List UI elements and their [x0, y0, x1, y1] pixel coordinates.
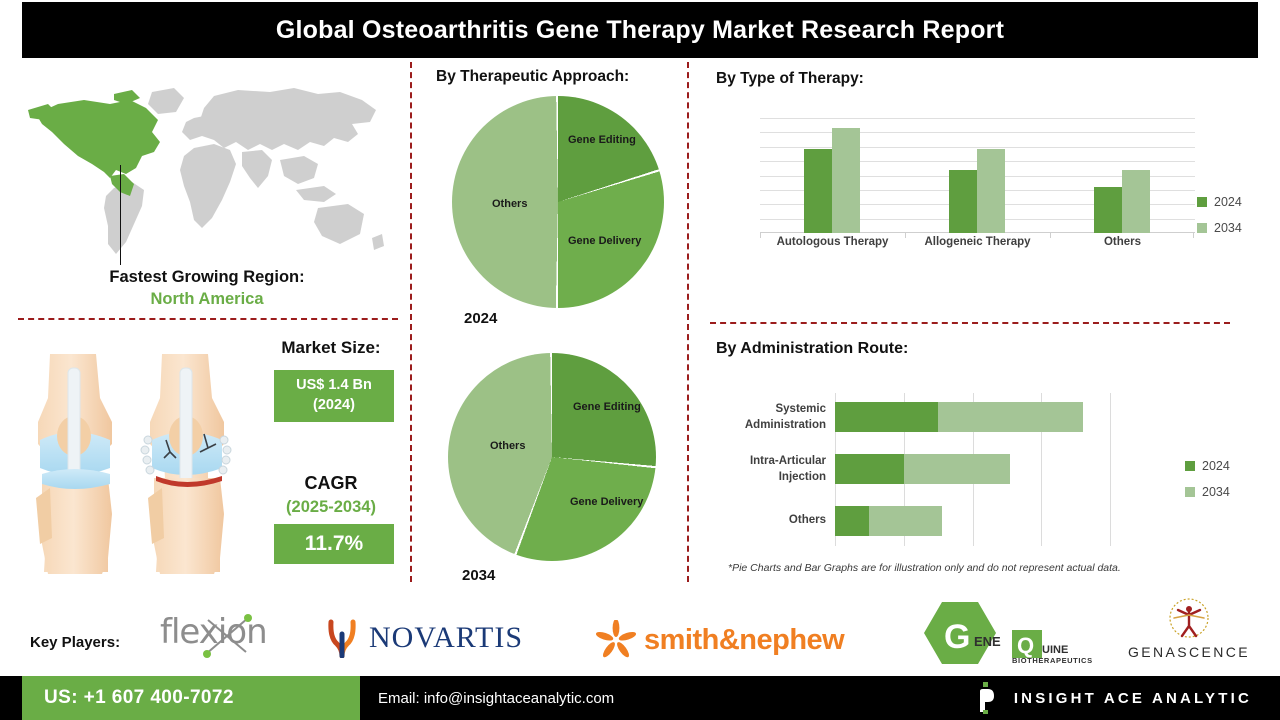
category-label-autologous-therapy: Autologous Therapy	[760, 236, 905, 248]
cagr-years: (2025-2034)	[248, 498, 414, 517]
bar-row-intra-articular-injection	[835, 454, 1110, 484]
logo-genascence-text: GENASCENCE	[1128, 644, 1250, 660]
logo-novartis: NOVARTIS	[325, 618, 523, 658]
region-label: Fastest Growing Region:	[22, 268, 392, 287]
pie-2034-year: 2034	[462, 567, 495, 584]
category-label-type-others: Others	[1050, 236, 1195, 248]
knee-joint-svg	[16, 348, 248, 578]
world-map-svg	[18, 78, 398, 268]
pie-2024-label-gene-delivery: Gene Delivery	[568, 235, 641, 247]
flexion-swoosh-icon	[202, 614, 256, 658]
smith-nephew-star-icon	[596, 620, 636, 660]
section-heading-administration-route: By Administration Route:	[716, 340, 908, 358]
legend-label-2024: 2024	[1214, 195, 1242, 209]
bar-others-2024	[1094, 187, 1122, 233]
section-heading-therapeutic-approach: By Therapeutic Approach:	[436, 68, 629, 86]
type-of-therapy-chart	[760, 118, 1195, 233]
pie-2034-label-gene-editing: Gene Editing	[573, 401, 641, 413]
category-label-systemic-administration: Systemic Administration	[700, 402, 826, 433]
bar-row-systemic-administration	[835, 402, 1110, 432]
svg-text:G: G	[944, 618, 970, 656]
footer-brand: INSIGHT ACE ANALYTIC	[974, 676, 1252, 720]
legend-label-2034: 2034	[1214, 221, 1242, 235]
report-title-bar: Global Osteoarthritis Gene Therapy Marke…	[22, 2, 1258, 58]
legend-swatch-2034	[1197, 223, 1207, 233]
bar-allogeneic-2024	[949, 170, 977, 233]
legend-swatch-2024	[1185, 461, 1195, 471]
bar-autologous-2034	[832, 128, 860, 233]
map-canada-islands-highlight	[114, 90, 140, 104]
market-size-year: (2024)	[313, 396, 355, 416]
bar-systemic-2034	[938, 402, 1082, 432]
map-eurasia	[200, 88, 376, 150]
legend-administration-route: 2024 2034	[1185, 459, 1230, 499]
divider-left-horizontal	[18, 318, 398, 320]
novartis-mark-icon	[325, 618, 359, 658]
map-new-zealand	[372, 234, 384, 250]
pie-2024-label-others: Others	[492, 198, 527, 210]
bar-group-autologous-therapy	[760, 118, 905, 233]
bar-others-2034	[1122, 170, 1150, 233]
map-greenland	[148, 88, 184, 114]
pie-2024-label-gene-editing: Gene Editing	[568, 134, 636, 146]
legend-item-2034: 2034	[1185, 485, 1230, 499]
footer-brand-text: INSIGHT ACE ANALYTIC	[1014, 690, 1252, 707]
legend-label-2034: 2034	[1202, 485, 1230, 499]
infographic-page: Global Osteoarthritis Gene Therapy Marke…	[0, 0, 1280, 720]
legend-type-of-therapy: 2024 2034	[1197, 195, 1242, 235]
market-size-heading: Market Size:	[248, 338, 414, 358]
footer-email[interactable]: Email: info@insightaceanalytic.com	[378, 676, 614, 720]
knee-joint-illustration	[16, 348, 248, 578]
page-title: Global Osteoarthritis Gene Therapy Marke…	[276, 16, 1004, 45]
key-players-label: Key Players:	[30, 634, 120, 651]
legend-item-2024: 2024	[1185, 459, 1230, 473]
category-label-intra-articular-injection: Intra-Articular Injection	[700, 454, 826, 485]
fastest-growing-region: Fastest Growing Region: North America	[22, 268, 392, 309]
category-label-allogeneic-therapy: Allogeneic Therapy	[905, 236, 1050, 248]
logo-smith-nephew: smith&nephew	[596, 620, 844, 660]
legend-swatch-2034	[1185, 487, 1195, 497]
legend-swatch-2024	[1197, 197, 1207, 207]
bar-group-others	[1050, 118, 1195, 233]
footer-phone[interactable]: US: +1 607 400-7072	[22, 687, 234, 709]
category-label-route-others: Others	[700, 513, 826, 529]
region-value: North America	[22, 290, 392, 309]
administration-route-chart	[835, 393, 1110, 546]
bar-row-route-others	[835, 506, 1110, 536]
section-heading-type-of-therapy: By Type of Therapy:	[716, 70, 864, 88]
cagr-value-box: 11.7%	[274, 524, 394, 564]
svg-text:ENE: ENE	[974, 634, 1001, 649]
logo-novartis-text: NOVARTIS	[369, 621, 523, 655]
map-africa	[180, 144, 236, 228]
pie-2024-year: 2024	[464, 310, 497, 327]
osteoarthritic-knee	[141, 354, 231, 574]
bar-allogeneic-2034	[977, 149, 1005, 233]
map-leader-line	[120, 165, 121, 265]
insight-ace-logo-icon	[974, 682, 1000, 714]
chart-disclaimer-note: *Pie Charts and Bar Graphs are for illus…	[728, 562, 1121, 574]
map-australia	[314, 204, 364, 244]
legend-label-2024: 2024	[1202, 459, 1230, 473]
bar-route-others-2034	[869, 506, 941, 536]
svg-text:UINE: UINE	[1042, 644, 1068, 656]
genascence-vitruvian-icon	[1158, 596, 1220, 642]
bar-autologous-2024	[804, 149, 832, 233]
map-europe	[182, 114, 228, 140]
footer-phone-block: US: +1 607 400-7072	[22, 676, 360, 720]
logo-smith-nephew-text: smith&nephew	[644, 624, 844, 657]
bar-route-others-2024	[835, 506, 869, 536]
map-indonesia	[296, 186, 336, 202]
genequine-hexagon-icon: G ENE Q UINE BIOTHERAPEUTICS	[900, 600, 1100, 666]
pie-2034-label-gene-delivery: Gene Delivery	[570, 496, 643, 508]
cagr-value: 11.7%	[305, 532, 363, 556]
svg-text:Q: Q	[1017, 633, 1034, 658]
market-size-value: US$ 1.4 Bn	[296, 376, 372, 396]
legend-item-2024: 2024	[1197, 195, 1242, 209]
divider-right-horizontal	[710, 322, 1230, 324]
map-india	[242, 150, 272, 188]
gridline	[1110, 393, 1111, 546]
bar-systemic-2024	[835, 402, 938, 432]
logo-genequine: G ENE Q UINE BIOTHERAPEUTICS	[900, 600, 1100, 666]
svg-text:BIOTHERAPEUTICS: BIOTHERAPEUTICS	[1012, 656, 1093, 665]
healthy-knee	[36, 354, 112, 574]
world-map	[18, 78, 398, 268]
pie-2034-label-others: Others	[490, 440, 525, 452]
logo-flexion: flexion	[160, 612, 267, 652]
bar-group-allogeneic-therapy	[905, 118, 1050, 233]
pie-chart-2024	[452, 96, 664, 308]
divider-vertical-right	[687, 62, 689, 582]
cagr-heading: CAGR	[248, 473, 414, 494]
legend-item-2034: 2034	[1197, 221, 1242, 235]
market-size-value-box: US$ 1.4 Bn (2024)	[274, 370, 394, 422]
pie-chart-2034	[448, 353, 656, 561]
bar-intra-articular-2034	[904, 454, 1011, 484]
bar-intra-articular-2024	[835, 454, 904, 484]
logo-genascence: GENASCENCE	[1128, 596, 1250, 660]
map-southeast-asia	[280, 156, 318, 184]
fibula-left	[36, 488, 52, 544]
